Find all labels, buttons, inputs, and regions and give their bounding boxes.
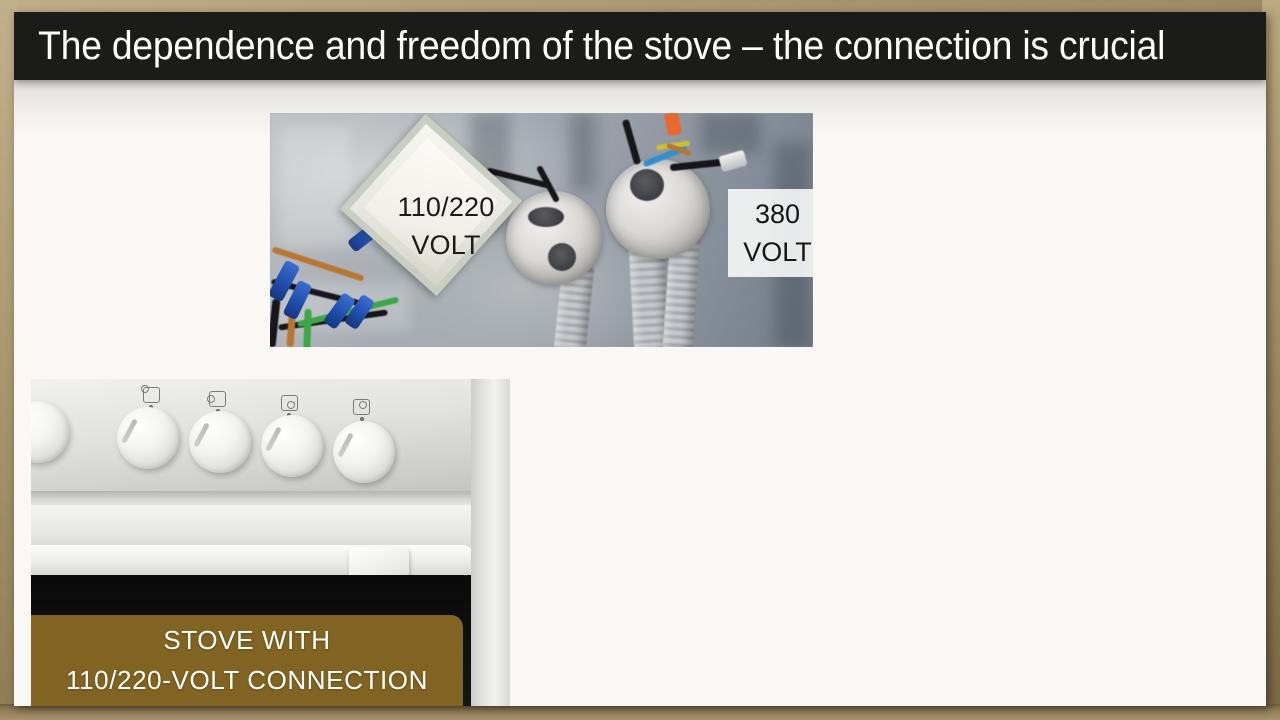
stove-side-panel [471,379,510,706]
page-title: The dependence and freedom of the stove … [14,26,1165,66]
stove-caption-line1: STOVE WITH [163,621,330,661]
label-380-volt-box: 380 VOLT [728,189,813,277]
junction-hole [630,169,664,201]
knob-pointer [193,422,210,447]
stove-knob[interactable] [189,411,251,473]
slide-title-bar: The dependence and freedom of the stove … [14,12,1266,80]
junction-hole [528,207,564,227]
stove-caption-line2: 110/220-VOLT CONNECTION [66,661,428,701]
stove-knob[interactable] [333,421,395,483]
burner-icon-ring [141,385,149,393]
label-110-220-volt-line2: VOLT [381,226,511,264]
slide-canvas: The dependence and freedom of the stove … [14,12,1266,706]
stove-knob[interactable] [117,407,179,469]
junction-box [506,191,602,285]
wall-highlight [280,127,350,247]
label-380-volt-line2: VOLT [743,233,812,271]
knob-pointer [265,426,282,451]
label-380-volt: 380 VOLT [728,189,813,277]
label-380-volt-line1: 380 [755,195,800,233]
stove-photo: STOVE WITH 110/220-VOLT CONNECTION [31,379,510,706]
burner-icon-ring [287,401,295,409]
green-wire [303,309,311,347]
slide-frame: The dependence and freedom of the stove … [0,0,1280,720]
burner-icon-ring [359,401,367,409]
stove-knob[interactable] [261,415,323,477]
junction-hole [548,243,576,271]
wall-shadow [570,113,596,191]
knob-pointer [337,432,354,457]
wall-shadow [700,113,760,153]
label-110-220-volt: 110/220 VOLT [381,188,511,265]
label-110-220-volt-line1: 110/220 [381,188,511,226]
electrical-wiring-photo: 110/220 VOLT 380 VOLT [270,113,813,347]
knob-pointer [121,418,138,443]
stove-caption-box: STOVE WITH 110/220-VOLT CONNECTION [31,615,463,706]
frame-bottom-band [0,704,1280,720]
burner-icon-ring [207,395,215,403]
